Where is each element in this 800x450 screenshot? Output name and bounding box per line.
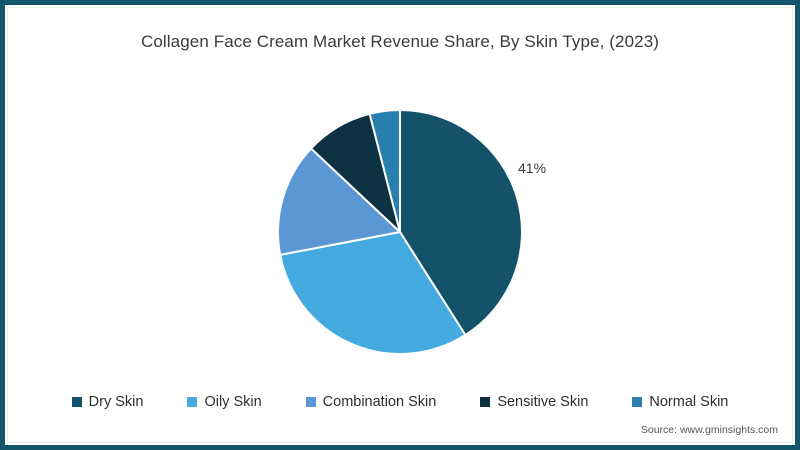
legend-item-dry-skin[interactable]: Dry Skin — [72, 394, 144, 410]
page-title: Collagen Face Cream Market Revenue Share… — [0, 32, 800, 52]
legend-swatch-sensitive-skin — [480, 397, 490, 407]
legend-item-normal-skin[interactable]: Normal Skin — [632, 394, 728, 410]
chart-canvas: Collagen Face Cream Market Revenue Share… — [0, 0, 800, 450]
frame-border-bottom — [0, 445, 800, 450]
legend-swatch-combination-skin — [306, 397, 316, 407]
legend-swatch-dry-skin — [72, 397, 82, 407]
legend-item-sensitive-skin[interactable]: Sensitive Skin — [480, 394, 588, 410]
legend-label-dry-skin: Dry Skin — [89, 394, 144, 410]
legend-label-combination-skin: Combination Skin — [323, 394, 437, 410]
legend-label-oily-skin: Oily Skin — [204, 394, 261, 410]
frame-border-left — [0, 0, 5, 450]
pie-chart — [278, 110, 522, 354]
legend-item-oily-skin[interactable]: Oily Skin — [187, 394, 261, 410]
legend-swatch-normal-skin — [632, 397, 642, 407]
source-attribution: Source: www.gminsights.com — [641, 424, 778, 436]
legend-label-sensitive-skin: Sensitive Skin — [497, 394, 588, 410]
chart-legend: Dry SkinOily SkinCombination SkinSensiti… — [0, 394, 800, 410]
legend-label-normal-skin: Normal Skin — [649, 394, 728, 410]
frame-border-top — [0, 0, 800, 5]
legend-swatch-oily-skin — [187, 397, 197, 407]
frame-border-right — [795, 0, 800, 450]
legend-item-combination-skin[interactable]: Combination Skin — [306, 394, 437, 410]
pie-svg — [278, 110, 522, 354]
slice-value-label-dry-skin: 41% — [518, 160, 546, 176]
